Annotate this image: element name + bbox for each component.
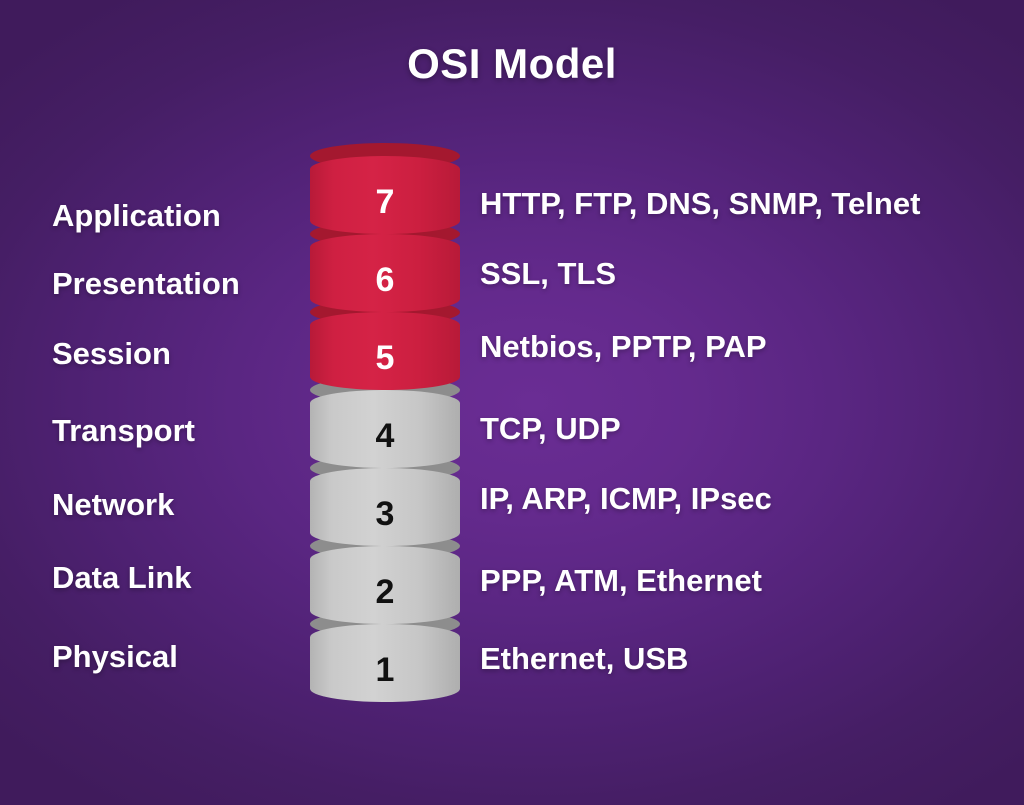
layer-name-session: Session [52, 338, 171, 369]
layer-name-physical: Physical [52, 641, 178, 672]
layer-protocols-physical: Ethernet, USB [480, 643, 688, 674]
layer-protocols-session: Netbios, PPTP, PAP [480, 331, 767, 362]
layer-name-network: Network [52, 489, 174, 520]
layer-name-transport: Transport [52, 415, 195, 446]
layer-protocols-application: HTTP, FTP, DNS, SNMP, Telnet [480, 188, 920, 219]
layer-protocols-transport: TCP, UDP [480, 413, 621, 444]
osi-layer-stack: 7 6 5 4 3 2 1 [310, 143, 460, 695]
layer-name-data-link: Data Link [52, 562, 192, 593]
layer-protocols-data-link: PPP, ATM, Ethernet [480, 565, 762, 596]
osi-model-diagram: OSI Model 7 6 5 4 3 [0, 0, 1024, 805]
layer-cylinder-7[interactable]: 7 [310, 143, 460, 247]
layer-protocols-network: IP, ARP, ICMP, IPsec [480, 483, 772, 514]
page-title: OSI Model [0, 40, 1024, 88]
layer-name-presentation: Presentation [52, 268, 240, 299]
layer-number: 7 [310, 156, 460, 234]
layer-name-application: Application [52, 200, 221, 231]
layer-protocols-presentation: SSL, TLS [480, 258, 616, 289]
